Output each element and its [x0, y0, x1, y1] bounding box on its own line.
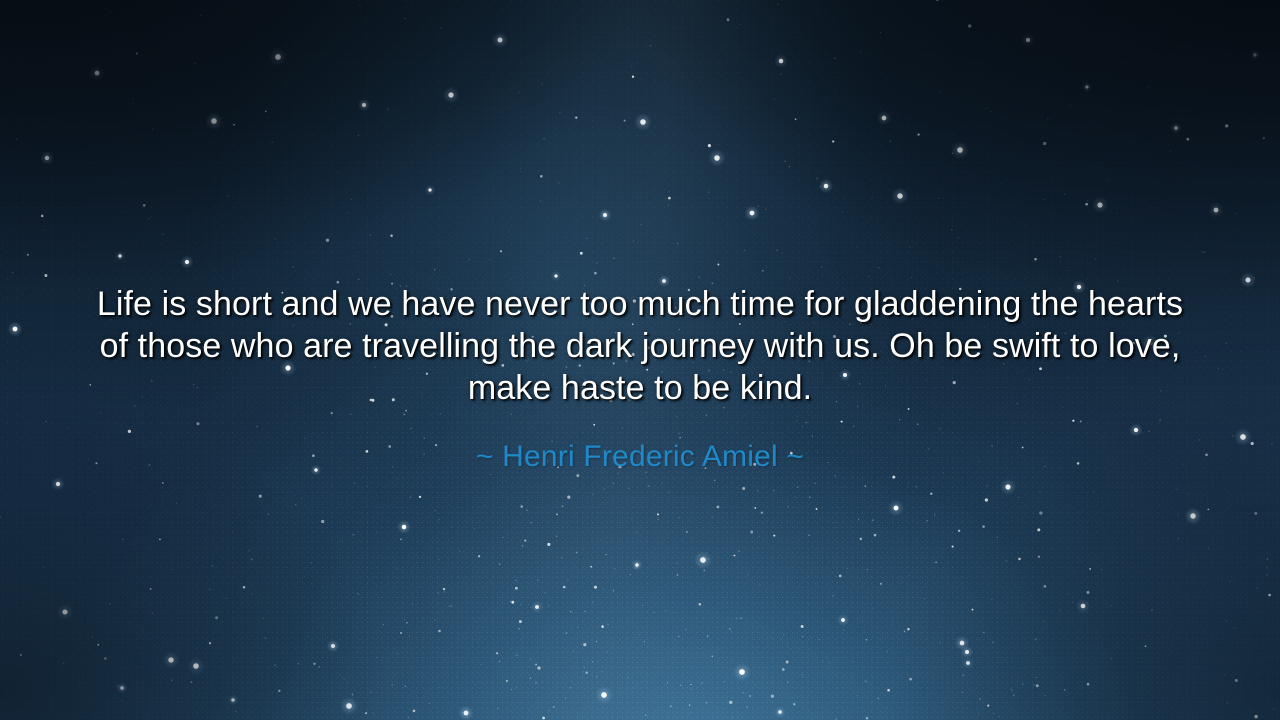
quote-card-canvas: Life is short and we have never too much…: [0, 0, 1280, 720]
quote-text: Life is short and we have never too much…: [85, 283, 1195, 409]
quote-block: Life is short and we have never too much…: [0, 0, 1280, 720]
quote-attribution: ~ Henri Frederic Amiel ~: [190, 438, 1090, 476]
